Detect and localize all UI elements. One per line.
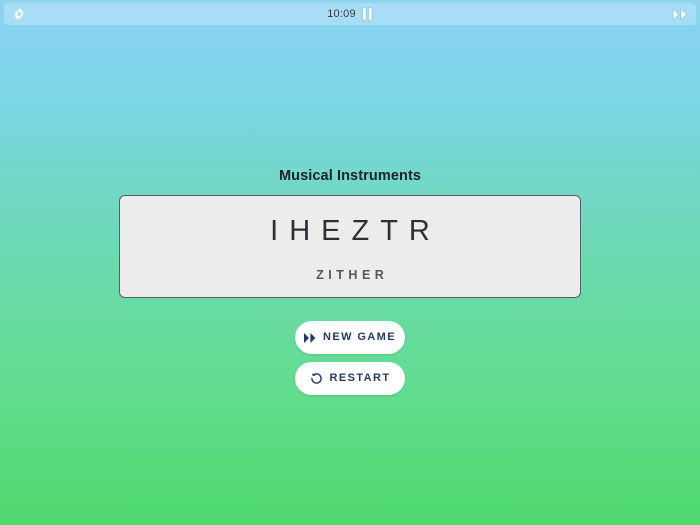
- fast-forward-icon[interactable]: [672, 8, 688, 21]
- new-game-button[interactable]: NEW GAME: [295, 321, 405, 354]
- gear-icon[interactable]: [12, 7, 26, 21]
- answer-word: ZITHER: [312, 268, 389, 282]
- scrambled-word: IHEZTR: [259, 215, 441, 248]
- clock-label: 10:09: [327, 8, 356, 20]
- category-title: Musical Instruments: [279, 168, 421, 184]
- fast-forward-icon: [304, 333, 316, 343]
- new-game-button-label: NEW GAME: [323, 332, 396, 343]
- pause-icon[interactable]: [362, 7, 373, 21]
- restart-button-label: RESTART: [330, 373, 391, 384]
- refresh-icon: [310, 372, 323, 385]
- action-buttons: NEW GAME RESTART: [295, 321, 405, 395]
- status-bar-right: [628, 8, 688, 21]
- puzzle-card: IHEZTR ZITHER: [119, 195, 581, 298]
- app-root: 10:09 Musical Instruments IHEZTR ZITHER: [0, 0, 700, 525]
- status-bar-left: [12, 7, 72, 21]
- game-content: Musical Instruments IHEZTR ZITHER NEW GA…: [0, 168, 700, 395]
- restart-button[interactable]: RESTART: [295, 362, 405, 395]
- status-bar: 10:09: [4, 3, 696, 25]
- status-bar-center: 10:09: [72, 7, 628, 21]
